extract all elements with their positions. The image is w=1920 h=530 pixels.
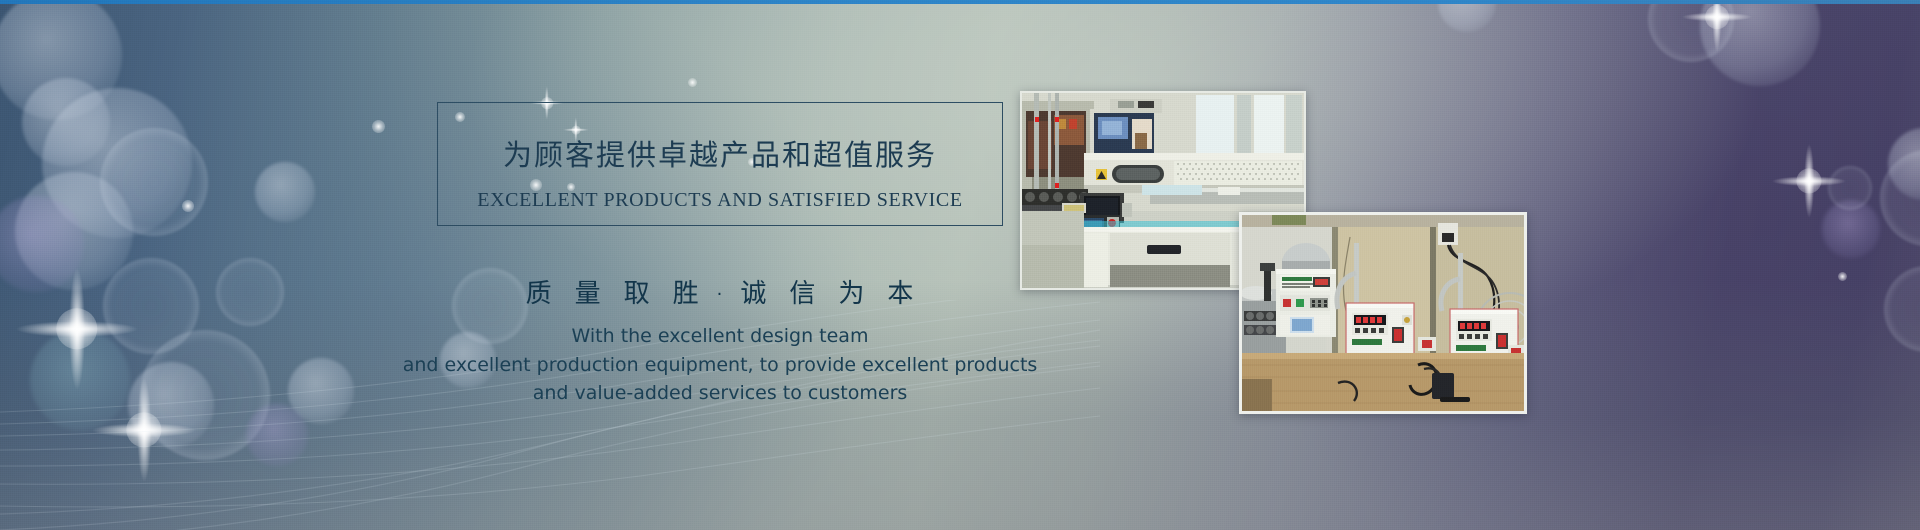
slogan-char: 胜 (662, 273, 711, 310)
slogan-separator: · (711, 284, 730, 305)
photo-texture (1242, 215, 1524, 411)
headline-chinese: 为顾客提供卓越产品和超值服务 (437, 132, 1003, 174)
slogan-char: 本 (876, 273, 925, 310)
description-paragraph: With the excellent design team and excel… (340, 322, 1100, 408)
slogan-char: 为 (827, 273, 876, 310)
slogan-line: 质量取胜·诚信为本 (400, 273, 1040, 310)
slogan-char: 诚 (729, 273, 778, 310)
headline-english: EXCELLENT PRODUCTS AND SATISFIED SERVICE (437, 189, 1003, 212)
slogan-char: 量 (564, 273, 613, 310)
paragraph-line-1: With the excellent design team (340, 322, 1100, 351)
paragraph-line-2: and excellent production equipment, to p… (340, 351, 1100, 380)
press-machines-photo (1239, 212, 1527, 414)
top-accent-rule (0, 0, 1920, 4)
slogan-char: 质 (515, 273, 564, 310)
paragraph-line-3: and value-added services to customers (340, 379, 1100, 408)
slogan-char: 信 (778, 273, 827, 310)
company-slogan-banner: 为顾客提供卓越产品和超值服务 EXCELLENT PRODUCTS AND SA… (0, 0, 1920, 530)
slogan-char: 取 (613, 273, 662, 310)
